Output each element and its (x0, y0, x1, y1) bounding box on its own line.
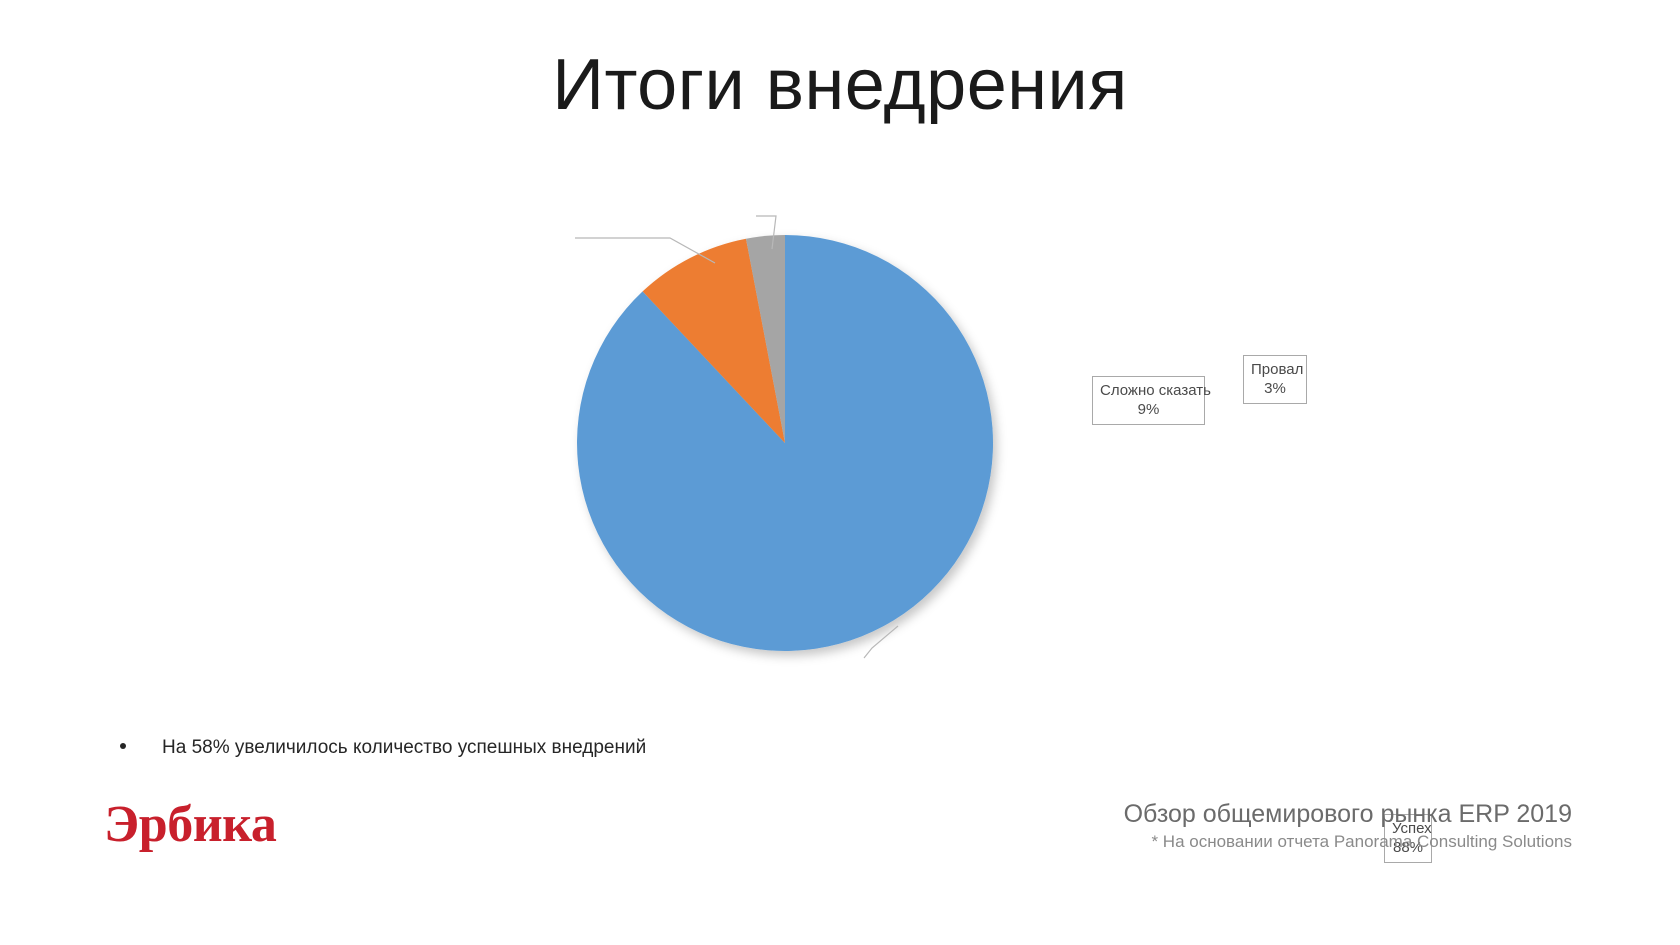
data-label-hard-to-say-value: 9% (1100, 400, 1197, 419)
bullet-item-label: На 58% увеличилось количество успешных в… (162, 734, 646, 762)
data-label-hard-to-say-name: Сложно сказать (1100, 381, 1197, 400)
company-logo: Эрбика (104, 795, 276, 855)
pie-slices-group (577, 235, 993, 651)
pie-chart-svg (520, 170, 1080, 710)
pie-chart: Сложно сказать 9% Провал 3% Успех 88% (520, 170, 1080, 710)
bullet-list-item: На 58% увеличилось количество успешных в… (120, 734, 1020, 764)
pie-slice-success[interactable] (577, 235, 993, 651)
slide-canvas: Итоги внедрения Сложно (0, 0, 1680, 945)
data-label-failure-value: 3% (1251, 379, 1299, 398)
slide-footer: Обзор общемирового рынка ERP 2019 * На о… (1124, 798, 1572, 854)
data-label-hard-to-say[interactable]: Сложно сказать 9% (1092, 376, 1205, 425)
data-label-failure-name: Провал (1251, 360, 1299, 379)
bullet-dot-icon (120, 743, 126, 749)
footer-title: Обзор общемирового рынка ERP 2019 (1124, 798, 1572, 830)
page-title: Итоги внедрения (0, 46, 1680, 125)
data-label-failure[interactable]: Провал 3% (1243, 355, 1307, 404)
footer-source-note: * На основании отчета Panorama Consultin… (1124, 830, 1572, 854)
